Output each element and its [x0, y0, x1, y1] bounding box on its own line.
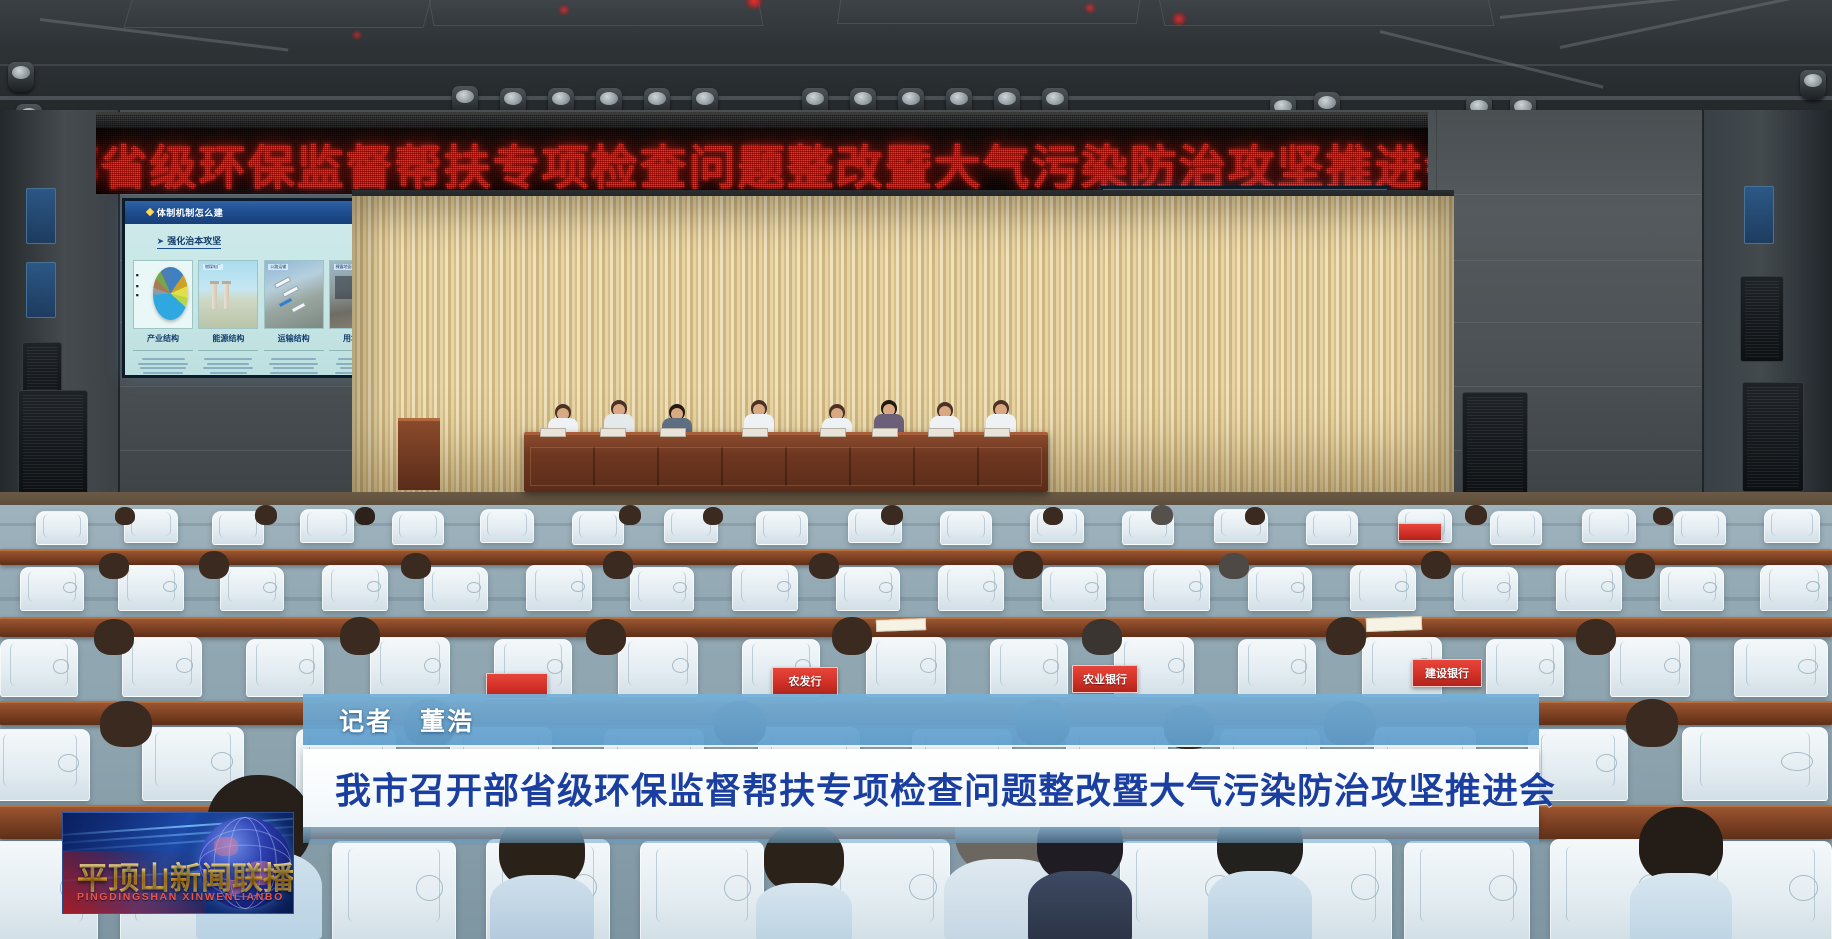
headline-text: 我市召开部省级环保监督帮扶专项检查问题整改暨大气污染防治攻坚推进会 [335, 762, 1556, 814]
foreground-attendee [1630, 807, 1732, 939]
nameplate-nongyeyinhang[interactable]: 农业银行 [1072, 665, 1138, 693]
podium [398, 418, 440, 490]
broadcast-frame: 部省级环保监督帮扶专项检查问题整改暨大气污染防治攻坚推进会 体制机制怎么建 ➤强… [0, 0, 1832, 939]
channel-logo: 平顶山新闻联播 PINGDINGSHAN XINWENLIANBO [62, 812, 294, 914]
stack-speaker-far-right [1742, 382, 1804, 492]
slide-caption: 能源结构 [198, 333, 258, 344]
channel-logo-en: PINGDINGSHAN XINWENLIANBO [77, 891, 284, 903]
slide-subtitle-text: 强化治本攻坚 [167, 237, 221, 247]
head-table [524, 432, 1048, 492]
ceiling-red-light [1082, 2, 1098, 14]
slide-text-columns [133, 350, 389, 375]
nameplate-blank-b[interactable] [1398, 523, 1442, 541]
nameplate-label: 农发行 [789, 673, 822, 689]
nameplate-jianshe[interactable]: 建设银行 [1412, 659, 1482, 687]
nameplate-label: 建设银行 [1425, 665, 1469, 681]
pie-chart [153, 267, 189, 320]
documents-on-table [1366, 616, 1422, 632]
pane-tag: 燃煤电厂 [203, 264, 223, 270]
slide-text-column [198, 350, 258, 375]
lower-third-footer-bar [303, 827, 1539, 843]
slide-pane-transport: 公路运输 [264, 260, 324, 330]
wall-blue-panel [26, 188, 56, 244]
ceiling-red-light [556, 4, 572, 16]
slide-caption: 运输结构 [264, 333, 324, 344]
slide-pane-pie: ■ ■ ■ [133, 260, 193, 330]
nameplate-nongfahang[interactable]: 农发行 [772, 667, 838, 695]
audience-table [0, 549, 1832, 565]
stack-speaker-right [1462, 392, 1528, 496]
nameplate-label: 农业银行 [1083, 671, 1127, 687]
slide-text-column [264, 350, 324, 375]
slide-caption: 产业结构 [133, 333, 193, 344]
reporter-name: 记者 董浩 [339, 702, 474, 738]
diamond-bullet-icon [146, 208, 154, 216]
pane-tag: 公路运输 [268, 264, 288, 270]
stack-speaker-left [18, 390, 88, 496]
slide-pane-energy: 燃煤电厂 [198, 260, 258, 330]
power-plant-photo [199, 261, 257, 329]
pie-chart-disc [153, 267, 189, 320]
led-board-top-trim [96, 115, 1428, 128]
table-panelling [530, 447, 1042, 486]
slide-pane-row: ■ ■ ■ 燃煤电厂 公路运输 [133, 260, 389, 330]
slide-text-column [133, 350, 193, 375]
led-banner-text: 部省级环保监督帮扶专项检查问题整改暨大气污染防治攻坚推进会 [96, 131, 1428, 194]
reporter-bar: 记者 董浩 [303, 694, 1539, 747]
wall-blue-panel [26, 262, 56, 318]
truck-road-photo [265, 261, 323, 329]
slide-header-text: 体制机制怎么建 [157, 206, 224, 219]
slide-subtitle: ➤强化治本攻坚 [157, 234, 222, 249]
slide-caption-row: 产业结构 能源结构 运输结构 用地结构 [133, 333, 389, 344]
wall-speaker [1740, 276, 1784, 362]
headline-bar: 我市召开部省级环保监督帮扶专项检查问题整改暨大气污染防治攻坚推进会 [303, 749, 1539, 827]
led-banner-board: 部省级环保监督帮扶专项检查问题整改暨大气污染防治攻坚推进会 [96, 112, 1428, 194]
documents-on-table [876, 618, 926, 632]
wall-blue-panel [1744, 186, 1774, 244]
ceiling-red-light [350, 30, 364, 40]
arrow-bullet-icon: ➤ [157, 237, 165, 247]
ceiling-red-light [1168, 12, 1190, 26]
